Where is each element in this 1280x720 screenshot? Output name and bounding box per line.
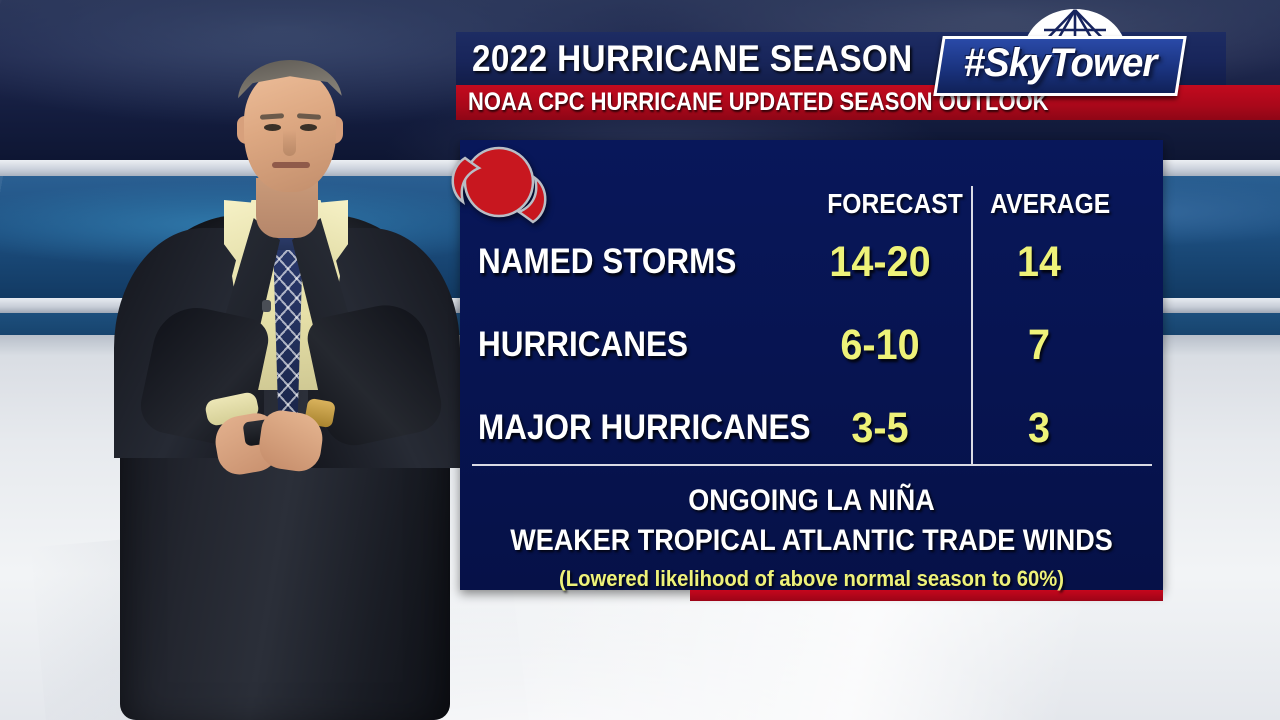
table-cell-forecast-hurricanes: 6-10 <box>806 321 953 370</box>
table-cell-average-hurricanes: 7 <box>989 321 1088 370</box>
page-title: 2022 HURRICANE SEASON <box>472 38 913 80</box>
panel-footer: ONGOING LA NIÑA WEAKER TROPICAL ATLANTIC… <box>460 472 1163 590</box>
column-header-forecast: FORECAST <box>827 188 963 220</box>
table-row-label-major-hurricanes: MAJOR HURRICANES <box>478 408 811 448</box>
column-header-average: AVERAGE <box>990 188 1110 220</box>
table-vertical-divider <box>971 186 973 464</box>
table-horizontal-divider <box>472 464 1152 466</box>
table-cell-average-named-storms: 14 <box>989 238 1088 287</box>
table-cell-forecast-named-storms: 14-20 <box>806 238 953 287</box>
footer-note-likelihood: (Lowered likelihood of above normal seas… <box>488 566 1135 592</box>
logo-text: #SkyTower <box>949 38 1172 88</box>
skytower-logo: #SkyTower <box>938 8 1176 94</box>
table-cell-average-major-hurricanes: 3 <box>989 404 1088 453</box>
table-cell-forecast-major-hurricanes: 3-5 <box>806 404 953 453</box>
footer-line-la-nina: ONGOING LA NIÑA <box>495 484 1128 518</box>
table-row-label-named-storms: NAMED STORMS <box>478 242 736 282</box>
table-row-label-hurricanes: HURRICANES <box>478 325 688 365</box>
footer-line-trade-winds: WEAKER TROPICAL ATLANTIC TRADE WINDS <box>495 524 1128 558</box>
broadcast-screenshot: FORECAST AVERAGE NAMED STORMS 14-20 14 H… <box>0 0 1280 720</box>
